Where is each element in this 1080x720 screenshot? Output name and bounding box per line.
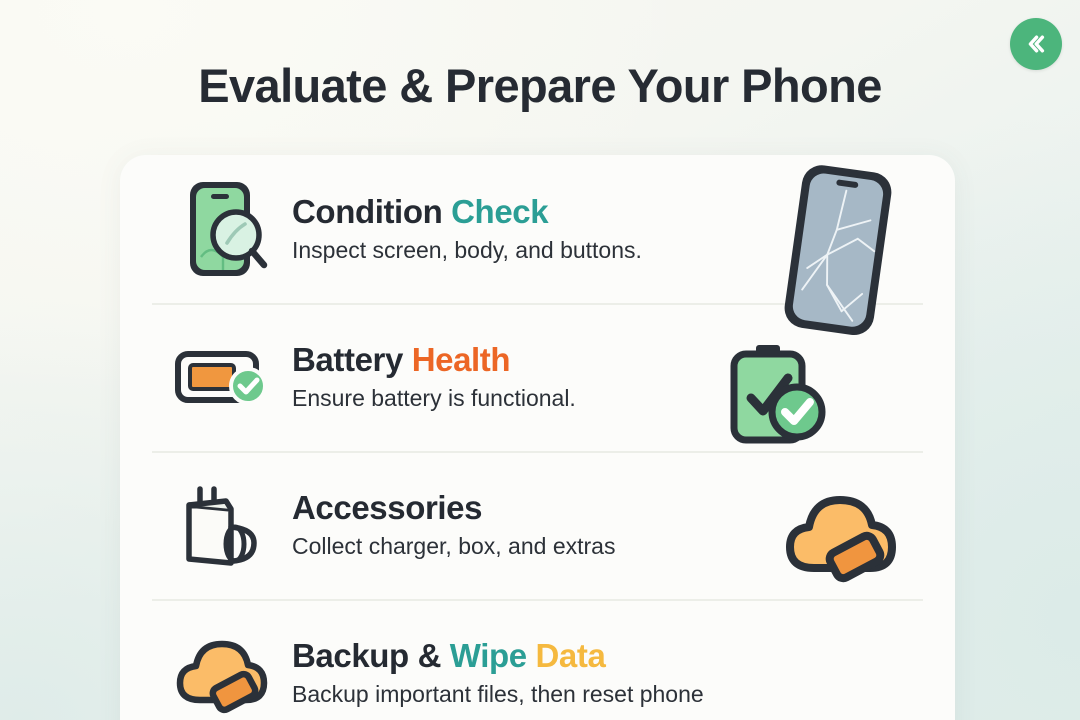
step-subtitle: Collect charger, box, and extras [292,533,955,561]
cloud-eraser-icon [172,630,276,716]
step-subtitle: Ensure battery is functional. [292,385,955,413]
step-title-plain: Battery [292,341,412,378]
step-subtitle: Backup important files, then reset phone [292,681,955,709]
step-title-accent-2: Data [536,637,606,674]
step-title-plain: Accessories [292,489,482,526]
row-divider [152,599,923,601]
step-title-accent: Wipe [450,637,527,674]
steps-card: Condition Check Inspect screen, body, an… [120,155,955,720]
charger-adapter-icon [172,479,276,571]
step-title-accent: Health [412,341,510,378]
row-divider [152,303,923,305]
step-title-plain: Backup & [292,637,450,674]
step-title: Backup & Wipe Data [292,637,955,675]
double-chevron-left-icon [1023,31,1049,57]
step-title: Battery Health [292,341,955,379]
step-row-backup-wipe-data[interactable]: Backup & Wipe Data Backup important file… [120,599,955,720]
step-title: Condition Check [292,193,955,231]
step-title: Accessories [292,489,955,527]
battery-check-icon [172,342,276,412]
row-divider [152,451,923,453]
step-text: Accessories Collect charger, box, and ex… [292,489,955,561]
step-title-space [527,637,536,674]
step-text: Backup & Wipe Data Backup important file… [292,637,955,709]
step-subtitle: Inspect screen, body, and buttons. [292,237,955,265]
step-row-battery-health[interactable]: Battery Health Ensure battery is functio… [120,303,955,451]
step-text: Condition Check Inspect screen, body, an… [292,193,955,265]
phone-magnifier-icon [172,177,276,281]
page-background: Evaluate & Prepare Your Phone Condition … [0,0,1080,720]
step-row-condition-check[interactable]: Condition Check Inspect screen, body, an… [120,155,955,303]
step-row-accessories[interactable]: Accessories Collect charger, box, and ex… [120,451,955,599]
step-title-accent: Check [451,193,548,230]
step-text: Battery Health Ensure battery is functio… [292,341,955,413]
step-title-plain: Condition [292,193,451,230]
page-title: Evaluate & Prepare Your Phone [0,58,1080,113]
